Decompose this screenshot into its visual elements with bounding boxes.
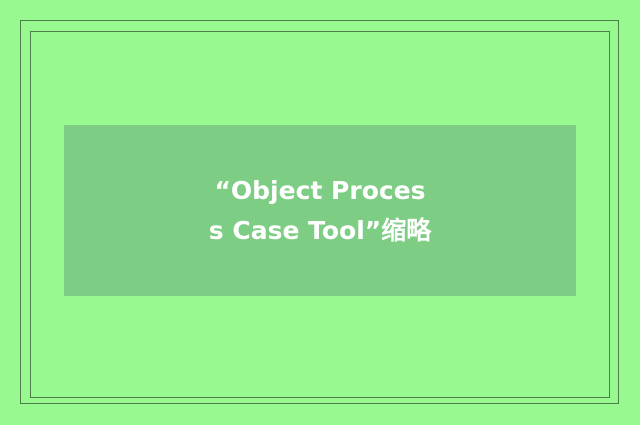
- poster-canvas: “Object Proces s Case Tool”缩略: [0, 0, 640, 425]
- title-panel: “Object Proces s Case Tool”缩略: [64, 125, 576, 296]
- panel-title-text: “Object Proces s Case Tool”缩略: [209, 171, 431, 251]
